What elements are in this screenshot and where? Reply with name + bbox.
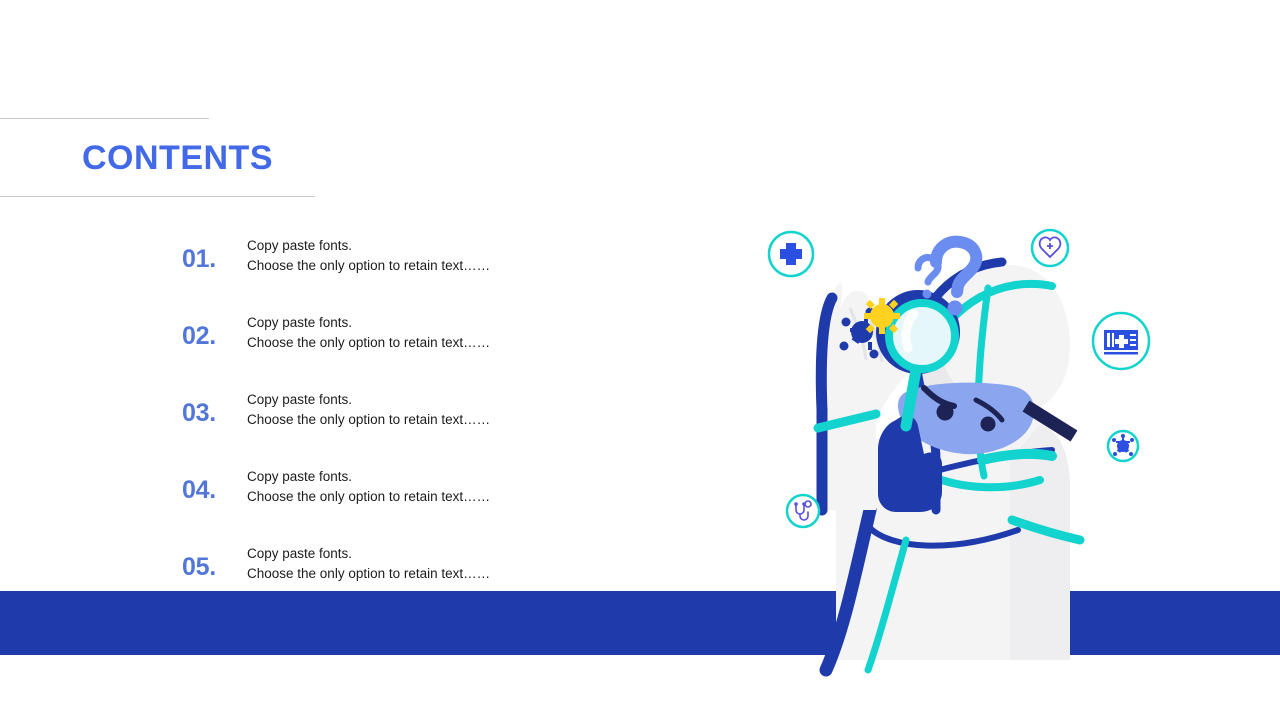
figure-torso-shade (1010, 424, 1070, 660)
badge-medical-cross (769, 232, 813, 276)
list-item-line2: Choose the only option to retain text…… (247, 564, 587, 584)
list-item-line2: Choose the only option to retain text…… (247, 333, 587, 353)
list-item-number: 03. (182, 398, 216, 428)
list-item-text: Copy paste fonts. Choose the only option… (247, 236, 587, 275)
list-item-line1: Copy paste fonts. (247, 467, 587, 487)
list-item-line2: Choose the only option to retain text…… (247, 410, 587, 430)
contents-list: 01. Copy paste fonts. Choose the only op… (182, 232, 602, 617)
cuff-teal-top (982, 454, 1052, 460)
list-item-text: Copy paste fonts. Choose the only option… (247, 467, 587, 506)
title-rule-top (0, 118, 209, 119)
title-rule-bottom (0, 196, 315, 197)
illustration (740, 210, 1160, 670)
list-item-line1: Copy paste fonts. (247, 236, 587, 256)
badge-heart-plus (1032, 230, 1068, 266)
list-item-line1: Copy paste fonts. (247, 544, 587, 564)
list-item[interactable]: 02. Copy paste fonts. Choose the only op… (182, 309, 602, 386)
list-item-text: Copy paste fonts. Choose the only option… (247, 390, 587, 429)
list-item[interactable]: 01. Copy paste fonts. Choose the only op… (182, 232, 602, 309)
list-item-number: 02. (182, 321, 216, 351)
list-item-number: 01. (182, 244, 216, 274)
list-item-line1: Copy paste fonts. (247, 313, 587, 333)
list-item-line2: Choose the only option to retain text…… (247, 487, 587, 507)
list-item-line1: Copy paste fonts. (247, 390, 587, 410)
badge-medical-card (1093, 313, 1149, 369)
list-item-number: 04. (182, 475, 216, 505)
page-title: CONTENTS (82, 136, 273, 180)
list-item[interactable]: 03. Copy paste fonts. Choose the only op… (182, 386, 602, 463)
list-item-text: Copy paste fonts. Choose the only option… (247, 313, 587, 352)
slide-canvas: CONTENTS 01. Copy paste fonts. Choose th… (0, 0, 1280, 720)
badge-stethoscope (787, 495, 819, 527)
list-item-text: Copy paste fonts. Choose the only option… (247, 544, 587, 583)
list-item-line2: Choose the only option to retain text…… (247, 256, 587, 276)
list-item[interactable]: 04. Copy paste fonts. Choose the only op… (182, 463, 602, 540)
badge-virus (1108, 431, 1138, 461)
germ-gold-icon (864, 298, 900, 334)
list-item-number: 05. (182, 552, 216, 582)
